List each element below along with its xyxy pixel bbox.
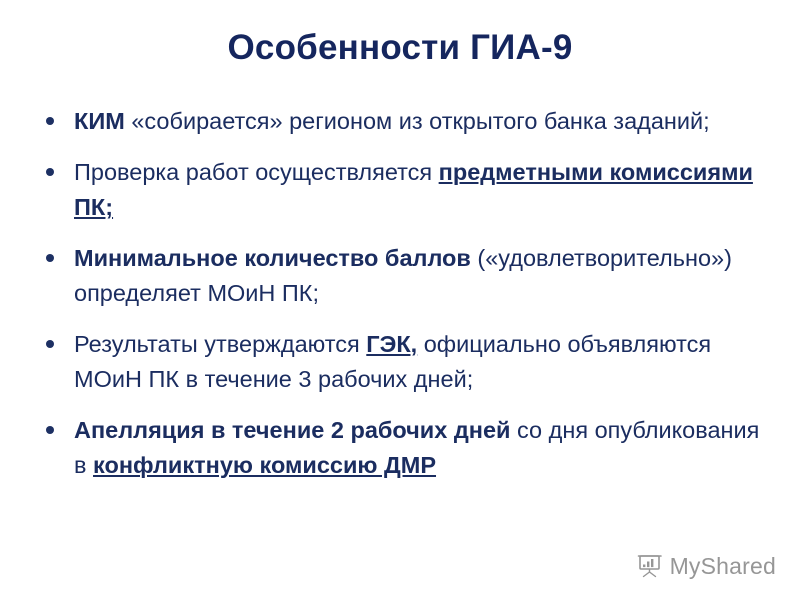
bullet-dot-icon — [46, 254, 54, 262]
list-item: Результаты утверждаются ГЭК, официально … — [40, 327, 764, 397]
watermark-label: MyShared — [670, 554, 776, 578]
bullet-run-emphasis: ГЭК, — [366, 331, 417, 357]
bullet-run: КИМ — [74, 108, 125, 134]
bullet-list: КИМ «собирается» регионом из открытого б… — [40, 104, 764, 483]
bullet-text: Результаты утверждаются ГЭК, официально … — [74, 327, 764, 397]
bullet-run: Апелляция в течение 2 рабочих дней — [74, 417, 510, 443]
bullet-dot-icon — [46, 340, 54, 348]
bullet-text: Проверка работ осуществляется предметным… — [74, 155, 764, 225]
bullet-run: «собирается» регионом из открытого банка… — [125, 108, 710, 134]
bullet-text: Минимальное количество баллов («удовлетв… — [74, 241, 764, 311]
bullet-run: Проверка работ осуществляется — [74, 159, 439, 185]
page-title: Особенности ГИА-9 — [0, 26, 800, 70]
bullet-dot-icon — [46, 426, 54, 434]
presentation-board-icon — [637, 554, 663, 578]
bullet-text: Апелляция в течение 2 рабочих дней со дн… — [74, 413, 764, 483]
bullet-run-emphasis: конфликтную комиссию ДМР — [93, 452, 436, 478]
bullet-dot-icon — [46, 168, 54, 176]
bullet-run: Минимальное количество баллов — [74, 245, 471, 271]
list-item: Минимальное количество баллов («удовлетв… — [40, 241, 764, 311]
bullet-run: Результаты утверждаются — [74, 331, 366, 357]
presentation-slide: Особенности ГИА-9 КИМ «собирается» регио… — [0, 0, 800, 600]
bullet-dot-icon — [46, 117, 54, 125]
bullet-text: КИМ «собирается» регионом из открытого б… — [74, 104, 764, 139]
list-item: Проверка работ осуществляется предметным… — [40, 155, 764, 225]
list-item: Апелляция в течение 2 рабочих дней со дн… — [40, 413, 764, 483]
watermark: MyShared — [637, 554, 776, 578]
list-item: КИМ «собирается» регионом из открытого б… — [40, 104, 764, 139]
